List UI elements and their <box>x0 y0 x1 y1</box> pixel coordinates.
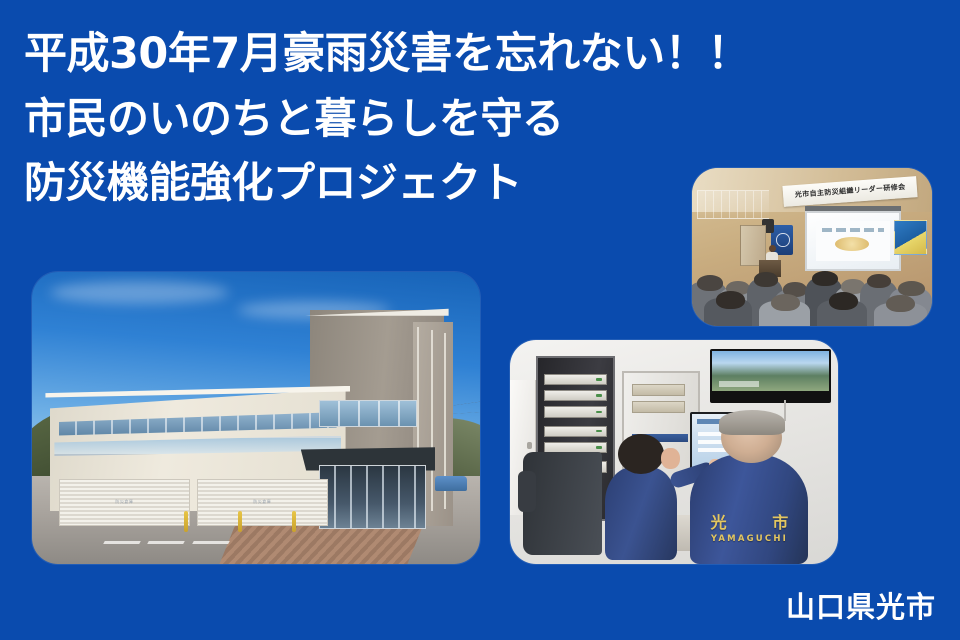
audience-head <box>716 291 745 308</box>
rack-unit <box>544 426 607 437</box>
wall-poster <box>894 220 928 255</box>
storage-box <box>632 384 684 396</box>
warehouse-shutter: 防災倉庫 <box>59 479 190 526</box>
bollard <box>292 511 296 531</box>
rack-unit <box>544 374 607 385</box>
bollard <box>184 511 188 531</box>
parking-line <box>148 541 185 544</box>
balcony-railing <box>697 190 769 218</box>
headline-block: 平成30年7月豪雨災害を忘れない！！ 市民のいのちと暮らしを守る 防災機能強化プ… <box>24 22 714 215</box>
parking-line <box>192 541 229 544</box>
building-scene: 防災倉庫 防災倉庫 <box>32 272 480 564</box>
staff-jacket: 光 市 YAMAGUCHI <box>690 454 808 564</box>
staff-member-operator <box>605 434 677 559</box>
disaster-control-room-photo: 光 市 YAMAGUCHI <box>510 340 838 564</box>
wall-mounted-monitor <box>710 349 831 403</box>
staff-jacket <box>605 467 677 560</box>
poster-root: 平成30年7月豪雨災害を忘れない！！ 市民のいのちと暮らしを守る 防災機能強化プ… <box>0 0 960 640</box>
staff-hair <box>719 410 785 434</box>
audience-head <box>754 272 778 287</box>
cloud <box>50 281 229 304</box>
staff-face <box>661 448 680 469</box>
issuer-credit: 山口県光市 <box>786 584 936 626</box>
warehouse-shutter: 防災倉庫 <box>197 479 328 526</box>
warehouse-shutter-row: 防災倉庫 防災倉庫 <box>59 479 328 526</box>
rack-unit <box>544 390 607 401</box>
monitor-camera-feed <box>712 351 829 391</box>
seminar-scene: 光市自主防災組織リーダー研修会 <box>692 168 932 326</box>
door-handle <box>527 442 532 449</box>
headline-line-1: 平成30年7月豪雨災害を忘れない！！ <box>24 22 714 87</box>
audience-head <box>812 271 838 286</box>
jacket-back-print: 光 市 YAMAGUCHI <box>690 515 808 544</box>
control-room-scene: 光 市 YAMAGUCHI <box>510 340 838 564</box>
bollard <box>238 511 242 531</box>
main-entrance-glass-doors <box>319 465 427 529</box>
audience-group <box>692 253 932 326</box>
event-banner-text: 光市自主防災組織リーダー研修会 <box>795 182 906 200</box>
office-chair <box>523 452 602 555</box>
shutter-label: 防災倉庫 <box>198 499 327 505</box>
facade-fin <box>431 330 433 511</box>
jacket-kanji: 光 市 <box>690 515 808 531</box>
tower-windows <box>319 400 418 426</box>
disaster-prevention-building-photo: 防災倉庫 防災倉庫 <box>32 272 480 564</box>
audience-head <box>867 274 891 289</box>
rack-unit <box>544 406 607 417</box>
audience-head <box>829 292 858 310</box>
staff-member-supervisor: 光 市 YAMAGUCHI <box>690 412 808 564</box>
jacket-romaji: YAMAGUCHI <box>690 534 808 544</box>
headline-line-3: 防災機能強化プロジェクト <box>24 151 714 215</box>
self-defense-leader-training-photo: 光市自主防災組織リーダー研修会 <box>692 168 932 326</box>
audience-head <box>886 295 915 312</box>
parked-car <box>435 476 466 491</box>
audience-head <box>697 275 723 291</box>
headline-line-2: 市民のいのちと暮らしを守る <box>24 87 714 151</box>
shutter-label: 防災倉庫 <box>60 499 189 505</box>
audience-head <box>898 281 924 296</box>
storage-box <box>632 401 684 413</box>
audience-head <box>771 294 800 311</box>
parking-line <box>103 541 140 544</box>
